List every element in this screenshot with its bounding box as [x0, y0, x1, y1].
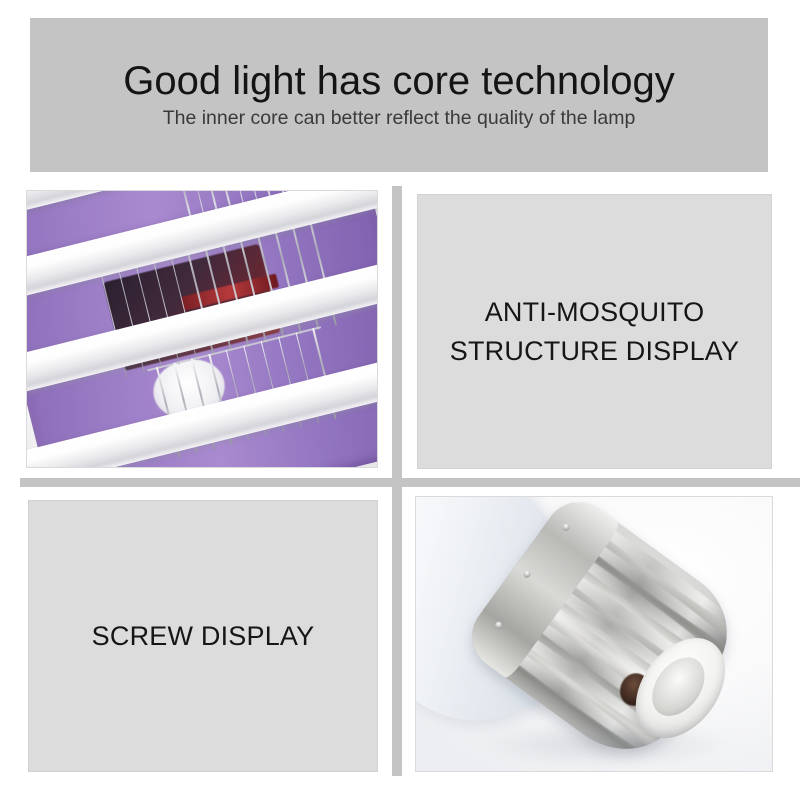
anti-mosquito-caption-text: ANTI-MOSQUITO STRUCTURE DISPLAY	[450, 293, 739, 370]
anti-mosquito-grid-image	[27, 191, 377, 467]
panel-screw-photo	[415, 496, 773, 772]
page-subtitle: The inner core can better reflect the qu…	[163, 108, 636, 129]
panel-anti-mosquito-caption: ANTI-MOSQUITO STRUCTURE DISPLAY	[417, 194, 772, 469]
drop-shadow	[480, 722, 729, 766]
photo-frame	[415, 496, 773, 772]
caption-box: ANTI-MOSQUITO STRUCTURE DISPLAY	[417, 194, 772, 469]
screw-caption-text: SCREW DISPLAY	[92, 617, 315, 655]
screw-base-image	[416, 497, 772, 771]
photo-frame	[26, 190, 378, 468]
caption-box: SCREW DISPLAY	[28, 500, 378, 772]
product-infographic-page: Good light has core technology The inner…	[0, 0, 800, 800]
header-band: Good light has core technology The inner…	[30, 18, 768, 172]
panel-screw-caption: SCREW DISPLAY	[28, 500, 378, 772]
horizontal-divider	[20, 478, 800, 487]
vertical-divider	[392, 186, 402, 776]
page-title: Good light has core technology	[123, 60, 674, 102]
panel-anti-mosquito-photo	[26, 190, 378, 468]
